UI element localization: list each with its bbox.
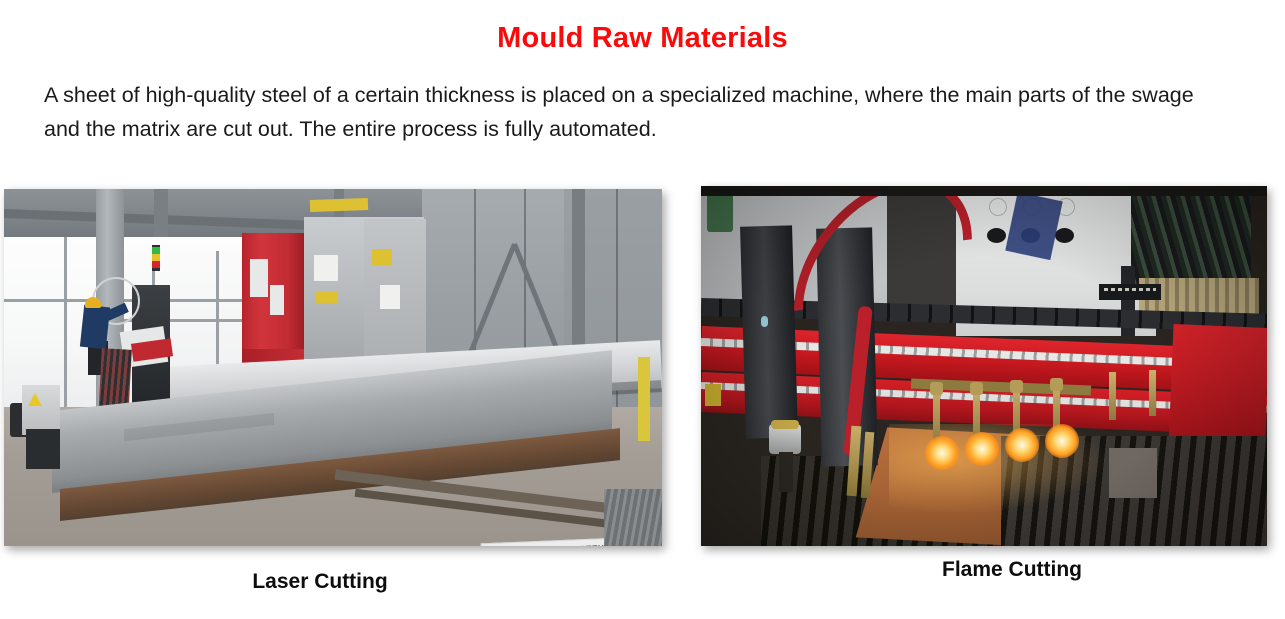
scrap-bin	[26, 429, 60, 469]
worker-hard-hat	[85, 297, 101, 308]
head-label-b	[270, 285, 284, 315]
electrical-box	[22, 385, 60, 435]
signal-light-green	[152, 247, 160, 254]
cabinet-yellow-label	[372, 249, 392, 265]
figure-laser-cutting-caption: Laser Cutting	[170, 570, 470, 594]
signal-light-yellow	[152, 254, 160, 261]
window-mullion-v1	[64, 237, 67, 409]
safety-post	[638, 357, 650, 441]
cabinet-white-label-2	[380, 285, 400, 309]
signal-light-red	[152, 261, 160, 268]
page-title: Mould Raw Materials	[0, 22, 1285, 55]
flame-cutting-scene	[701, 186, 1267, 546]
cabinet-yellow-bar	[310, 198, 368, 212]
slide-root: Mould Raw Materials A sheet of high-qual…	[0, 0, 1285, 619]
figure-laser-cutting-image: KOIKE LASERTEX Z	[4, 189, 662, 546]
steel-stock-bars	[604, 489, 662, 546]
photo-vignette	[701, 186, 1267, 546]
head-label-a	[250, 259, 268, 297]
cabinet-yellow-label-2	[316, 291, 338, 303]
laser-cutting-scene: KOIKE LASERTEX Z	[4, 189, 662, 546]
figure-flame-cutting-caption: Flame Cutting	[862, 558, 1162, 582]
cabinet-white-label	[314, 255, 338, 281]
intro-paragraph: A sheet of high-quality steel of a certa…	[44, 78, 1204, 146]
figure-flame-cutting-image	[701, 186, 1267, 546]
